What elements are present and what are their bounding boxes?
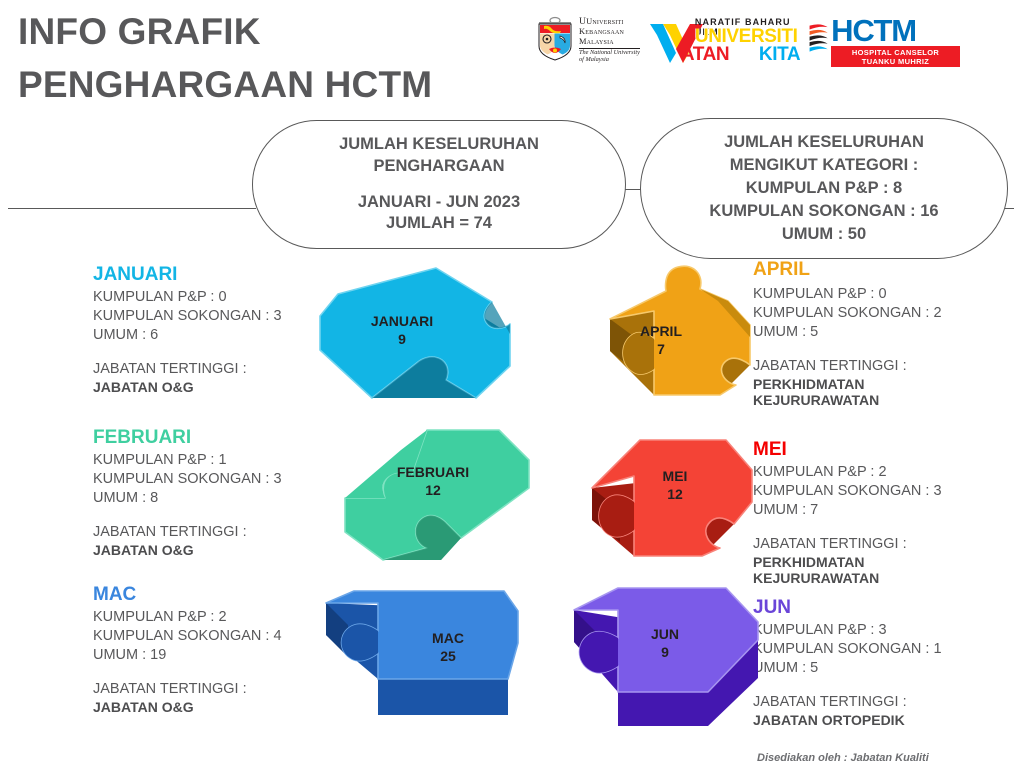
month-pp-jun: KUMPULAN P&P : 3 [753, 621, 1003, 640]
puzzle-label-mac: MAC 25 [408, 630, 488, 665]
logo-bar: UUniversiti Kebangsaan Malaysia The Nati… [536, 13, 960, 67]
page-title-line1: INFO GRAFIK [18, 11, 261, 52]
month-jabatan-label-februari: JABATAN TERTINGGI : [93, 523, 343, 542]
ukm-logo: UUniversiti Kebangsaan Malaysia The Nati… [536, 16, 640, 64]
callout-total-awards: JUMLAH KESELURUHAN PENGHARGAAN JANUARI -… [252, 120, 626, 249]
page-title-line2: PENGHARGAAN HCTM [18, 59, 538, 112]
month-sokongan-jun: KUMPULAN SOKONGAN : 1 [753, 640, 1003, 659]
callout-right-line1: JUMLAH KESELURUHAN [724, 131, 924, 154]
puzzle-label-jun: JUN 9 [630, 626, 700, 661]
hctm-logo: HCTM HOSPITAL CANSELOR TUANKU MUHRIZ [808, 16, 960, 64]
month-name-jun: JUN [753, 598, 1003, 619]
callout-right-line4: KUMPULAN SOKONGAN : 16 [709, 200, 938, 223]
puzzle-label-april: APRIL 7 [626, 323, 696, 358]
callout-category-breakdown: JUMLAH KESELURUHAN MENGIKUT KATEGORI : K… [640, 118, 1008, 259]
footer-note: Disediakan oleh : Jabatan Kualiti [757, 752, 929, 764]
puzzle-label-januari: JANUARI 9 [352, 313, 452, 348]
month-block-jun: JUN KUMPULAN P&P : 3 KUMPULAN SOKONGAN :… [753, 598, 1003, 728]
naratif-watan: ATAN [681, 45, 729, 64]
month-sokongan-februari: KUMPULAN SOKONGAN : 3 [93, 470, 343, 489]
hctm-wordmark: HCTM [831, 16, 960, 45]
puzzle-label-februari: FEBRUARI 12 [383, 464, 483, 499]
infographic-canvas: INFO GRAFIK PENGHARGAAN HCTM UUniversiti [0, 0, 1014, 774]
callout-right-line5: UMUM : 50 [782, 223, 866, 246]
puzzle-piece-april: APRIL 7 [594, 255, 814, 440]
naratif-kita: KITA [759, 45, 800, 64]
puzzle-piece-januari: JANUARI 9 [300, 258, 535, 443]
ukm-line3: Malaysia [579, 37, 614, 46]
month-jabatan-value-jun: JABATAN ORTOPEDIK [753, 712, 1003, 729]
callout-left-line1: JUMLAH KESELURUHAN [339, 134, 539, 156]
callout-left-line2: PENGHARGAAN [373, 156, 504, 178]
month-jabatan-label-jun: JABATAN TERTINGGI : [753, 693, 1003, 712]
ukm-line2: Kebangsaan [579, 27, 624, 36]
puzzle-piece-mac: MAC 25 [300, 575, 536, 740]
naratif-baharu-logo: NARATIF BAHARU UKM UNIVERSITI ATAN KITA [649, 15, 799, 65]
month-umum-jun: UMUM : 5 [753, 659, 1003, 678]
ukm-crest-icon [536, 16, 574, 64]
hctm-wave-icon [808, 18, 829, 60]
month-umum-februari: UMUM : 8 [93, 489, 343, 508]
puzzle-piece-februari: FEBRUARI 12 [325, 420, 555, 590]
ukm-sub2: of Malaysia [579, 57, 640, 64]
callout-right-line2: MENGIKUT KATEGORI : [730, 154, 919, 177]
page-title: INFO GRAFIK PENGHARGAAN HCTM [18, 6, 538, 111]
puzzle-label-mei: MEI 12 [640, 468, 710, 503]
month-block-februari: FEBRUARI KUMPULAN P&P : 1 KUMPULAN SOKON… [93, 428, 343, 558]
puzzle-piece-mei: MEI 12 [578, 430, 803, 595]
callout-left-line4: JUMLAH = 74 [386, 213, 492, 235]
month-pp-februari: KUMPULAN P&P : 1 [93, 451, 343, 470]
connector-line-left [8, 208, 256, 209]
ukm-line1: Universiti [586, 17, 623, 26]
callout-left-line3: JANUARI - JUN 2023 [358, 192, 520, 214]
month-jabatan-value-februari: JABATAN O&G [93, 542, 343, 559]
callout-right-line3: KUMPULAN P&P : 8 [746, 177, 902, 200]
hctm-tagline: HOSPITAL CANSELOR TUANKU MUHRIZ [831, 46, 960, 67]
ukm-logo-text: UUniversiti Kebangsaan Malaysia The Nati… [579, 16, 640, 64]
